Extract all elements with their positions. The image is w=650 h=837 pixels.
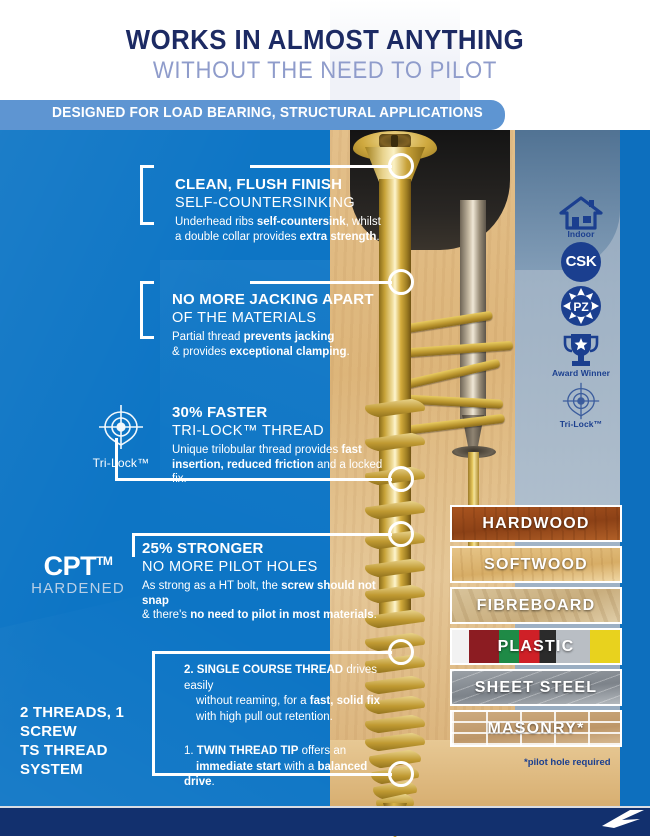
material-label: MASONRY*	[452, 712, 620, 745]
page-subtitle: WITHOUT THE NEED TO PILOT	[26, 57, 624, 85]
callout-lead-line	[135, 533, 392, 536]
page-header: WORKS IN ALMOST ANYTHING WITHOUT THE NEE…	[0, 0, 650, 100]
badge-tri-lock: Tri-Lock™	[545, 382, 617, 429]
material-bar-plastic: PLASTIC	[450, 628, 622, 665]
thread-system-title-line2: TS THREAD SYSTEM	[20, 741, 170, 779]
trilock-label: Tri-Lock™	[92, 456, 150, 470]
material-label: FIBREBOARD	[452, 589, 620, 622]
thread-system-title-line1: 2 THREADS, 1 SCREW	[20, 703, 170, 741]
svg-text:PZ: PZ	[573, 300, 588, 314]
callout-heading: 25% STRONGER	[142, 540, 392, 558]
trilock-icon	[98, 404, 144, 450]
badge-indoor: Indoor	[545, 196, 617, 239]
badge-label: Tri-Lock™	[545, 419, 617, 429]
callout-ring-course-thread	[388, 639, 414, 665]
material-label: PLASTIC	[452, 630, 620, 663]
page-footer	[0, 808, 650, 836]
pz-icon: PZ	[559, 284, 603, 328]
badge-column: Indoor CSK PZ Award Winner	[545, 196, 617, 431]
trilock-icon	[562, 382, 600, 420]
banner-text: DESIGNED FOR LOAD BEARING, STRUCTURAL AP…	[52, 105, 451, 121]
material-label: SHEET STEEL	[452, 671, 620, 704]
material-bar-fibreboard: FIBREBOARD	[450, 587, 622, 624]
callout-heading: 30% FASTER	[172, 404, 392, 422]
material-bar-sheet-steel: SHEET STEEL	[450, 669, 622, 706]
material-label: SOFTWOOD	[452, 548, 620, 581]
pilot-hole-note: *pilot hole required	[524, 757, 620, 768]
material-bar-hardwood: HARDWOOD	[450, 505, 622, 542]
callout-subheading: TRI-LOCK™ THREAD	[172, 422, 392, 440]
cpt-subtitle: HARDENED	[22, 580, 134, 597]
callout-clean-flush-finish: CLEAN, FLUSH FINISH SELF-COUNTERSINKING …	[175, 176, 385, 244]
callout-heading: NO MORE JACKING APART	[172, 291, 387, 309]
callout-subheading: OF THE MATERIALS	[172, 309, 387, 327]
badge-csk: CSK	[545, 242, 617, 282]
callout-body: Unique trilobular thread provides fast i…	[172, 443, 392, 487]
house-icon	[559, 196, 603, 230]
cpt-name: CPTTM	[22, 551, 134, 582]
thread-system-item-1: 1. TWIN THREAD TIP offers an immediate s…	[184, 744, 399, 791]
badge-label: Award Winner	[545, 368, 617, 378]
callout-subheading: SELF-COUNTERSINKING	[175, 194, 385, 212]
callout-heading: CLEAN, FLUSH FINISH	[175, 176, 385, 194]
thread-system-item-2: 2. SINGLE COURSE THREAD drives easily wi…	[184, 663, 399, 725]
trophy-icon	[560, 331, 602, 369]
callout-body: Underhead ribs self-countersink, whilst …	[175, 215, 385, 244]
cpt-logo: CPTTM HARDENED	[22, 551, 134, 597]
callout-lead-line	[250, 165, 392, 168]
callout-no-more-pilot-holes: 25% STRONGER NO MORE PILOT HOLES As stro…	[142, 540, 392, 623]
callout-no-more-jacking-apart: NO MORE JACKING APART OF THE MATERIALS P…	[172, 291, 387, 359]
callout-bracket	[140, 165, 154, 225]
trilock-logo-left: Tri-Lock™	[92, 404, 150, 470]
callout-body: Partial thread prevents jacking & provid…	[172, 330, 387, 359]
badge-label: Indoor	[545, 229, 617, 239]
callout-bracket	[140, 281, 154, 339]
screw-pozi-recess	[379, 134, 411, 148]
material-bar-masonry: MASONRY*	[450, 710, 622, 747]
right-edge-strip	[620, 130, 650, 808]
badge-text: CSK	[561, 242, 601, 282]
callout-ring-collar	[388, 269, 414, 295]
callout-lead-line	[155, 651, 392, 654]
callout-body: As strong as a HT bolt, the screw should…	[142, 579, 392, 623]
badge-pz: PZ	[545, 284, 617, 328]
badge-award-winner: Award Winner	[545, 331, 617, 378]
page-title: WORKS IN ALMOST ANYTHING	[26, 24, 624, 56]
callout-lead-line	[250, 281, 392, 284]
thread-system-title: 2 THREADS, 1 SCREW TS THREAD SYSTEM	[20, 703, 170, 779]
material-bar-softwood: SOFTWOOD	[450, 546, 622, 583]
material-label: HARDWOOD	[452, 507, 620, 540]
callout-subheading: NO MORE PILOT HOLES	[142, 558, 392, 576]
callout-tri-lock-thread: 30% FASTER TRI-LOCK™ THREAD Unique trilo…	[172, 404, 392, 487]
brand-swoosh-icon	[600, 808, 646, 830]
callout-ring-head	[388, 153, 414, 179]
